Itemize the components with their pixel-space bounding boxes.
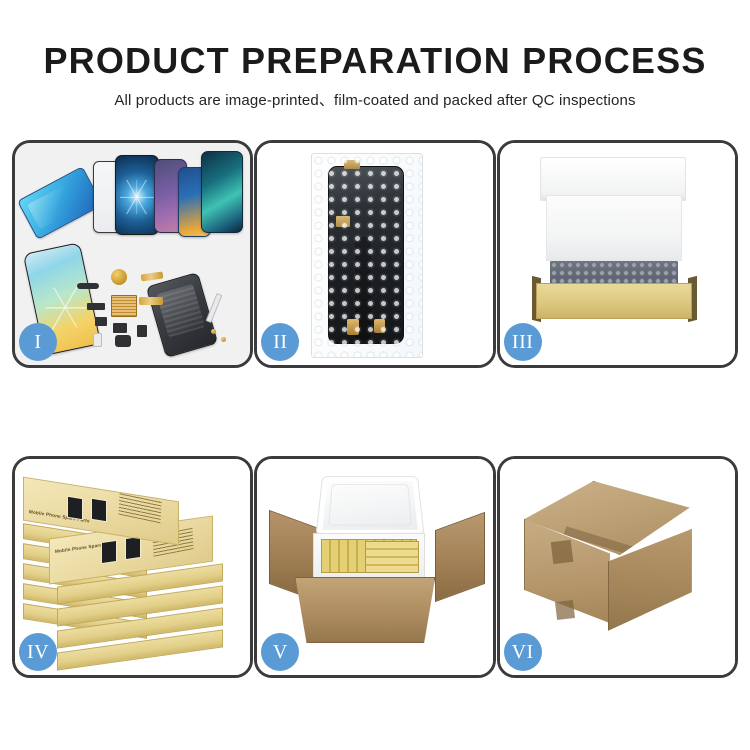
sim-tray-part bbox=[93, 333, 102, 347]
carton-tape-patch-lower bbox=[555, 600, 575, 620]
tape-strip-top bbox=[344, 160, 360, 169]
step-badge-6: VI bbox=[504, 633, 542, 671]
flex-cable-part-b bbox=[139, 297, 163, 305]
speaker-mesh-part bbox=[77, 283, 99, 289]
step-badge-4: IV bbox=[19, 633, 57, 671]
header: PRODUCT PREPARATION PROCESS All products… bbox=[0, 40, 750, 111]
blue-adhesive-film bbox=[17, 166, 103, 240]
connector-part-b bbox=[95, 317, 107, 326]
process-step-panel-6[interactable]: VI bbox=[497, 456, 738, 678]
connector-part-a bbox=[87, 303, 105, 310]
carton-flap-right bbox=[435, 512, 485, 602]
tape-strip-middle bbox=[336, 216, 350, 227]
box-label-window-2b bbox=[125, 536, 141, 560]
box-label-window-1a bbox=[67, 496, 83, 521]
packed-yellow-boxes-b bbox=[365, 541, 419, 573]
flex-cable-part-a bbox=[141, 272, 164, 282]
process-step-panel-2[interactable]: II bbox=[254, 140, 495, 368]
box-label-window-1b bbox=[91, 498, 107, 523]
screw-part-a bbox=[211, 329, 216, 334]
screen-connector-left bbox=[347, 319, 359, 335]
bubble-wrap-package bbox=[311, 153, 423, 358]
process-step-panel-1[interactable]: I bbox=[12, 140, 253, 368]
screen-connector-right bbox=[374, 319, 385, 333]
product-preparation-infographic: PRODUCT PREPARATION PROCESS All products… bbox=[0, 0, 750, 750]
process-step-panel-4[interactable]: Mobile Phone Spare Parts Mobile Phone Sp… bbox=[12, 456, 253, 678]
outer-carton-front bbox=[295, 577, 435, 643]
wrapped-screen-assembly bbox=[328, 166, 404, 344]
foam-cooler-lid bbox=[316, 476, 425, 536]
process-step-panel-3[interactable]: III bbox=[497, 140, 738, 368]
process-step-panel-5[interactable]: V bbox=[254, 456, 495, 678]
process-step-grid: I II bbox=[12, 140, 738, 678]
box-stack: Mobile Phone Spare Parts Mobile Phone Sp… bbox=[21, 475, 233, 665]
step-badge-1: I bbox=[19, 323, 57, 361]
kraft-box-front-panel bbox=[536, 283, 692, 319]
box-label-window-2a bbox=[101, 540, 117, 564]
screw-part-b bbox=[221, 337, 226, 342]
page-subtitle: All products are image-printed、film-coat… bbox=[0, 91, 750, 111]
white-foam-sheet bbox=[546, 195, 682, 261]
cracked-iphone-screen bbox=[115, 155, 159, 235]
vibration-motor-part bbox=[115, 335, 131, 347]
bracket-part bbox=[113, 323, 127, 333]
page-title: PRODUCT PREPARATION PROCESS bbox=[0, 40, 750, 82]
ic-chip-grid-part bbox=[111, 295, 137, 317]
step-badge-3: III bbox=[504, 323, 542, 361]
battery-connector-part bbox=[137, 325, 147, 337]
teal-wave-phone bbox=[201, 151, 243, 233]
carton-tape-patch-upper bbox=[550, 540, 573, 564]
camera-module-part bbox=[111, 269, 127, 285]
